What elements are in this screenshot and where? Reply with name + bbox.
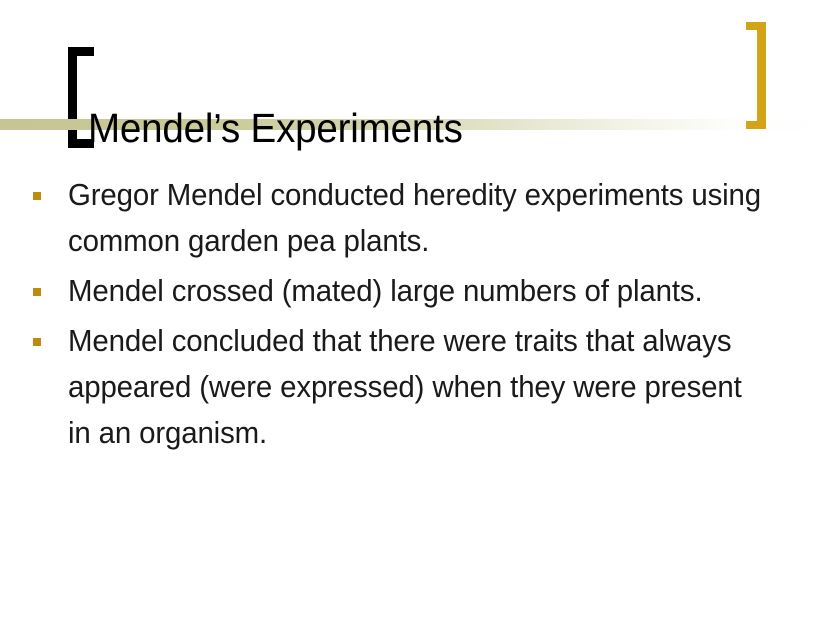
square-bullet-icon [33,338,41,346]
bullet-list: Gregor Mendel conducted heredity experim… [0,172,828,456]
page-title: Mendel’s Experiments [88,105,463,151]
list-item-label: Mendel concluded that there were traits … [68,318,769,456]
slide-body: Gregor Mendel conducted heredity experim… [0,172,828,460]
list-item: Gregor Mendel conducted heredity experim… [0,172,828,264]
list-item-label: Mendel crossed (mated) large numbers of … [68,268,769,314]
list-item: Mendel crossed (mated) large numbers of … [0,268,828,314]
list-item: Mendel concluded that there were traits … [0,318,828,456]
slide-title-area: Mendel’s Experiments [0,0,828,160]
presentation-slide: Mendel’s Experiments Gregor Mendel condu… [0,0,828,621]
list-item-label: Gregor Mendel conducted heredity experim… [68,172,769,264]
right-bracket-icon [746,22,766,129]
square-bullet-icon [33,288,41,296]
square-bullet-icon [33,192,41,200]
